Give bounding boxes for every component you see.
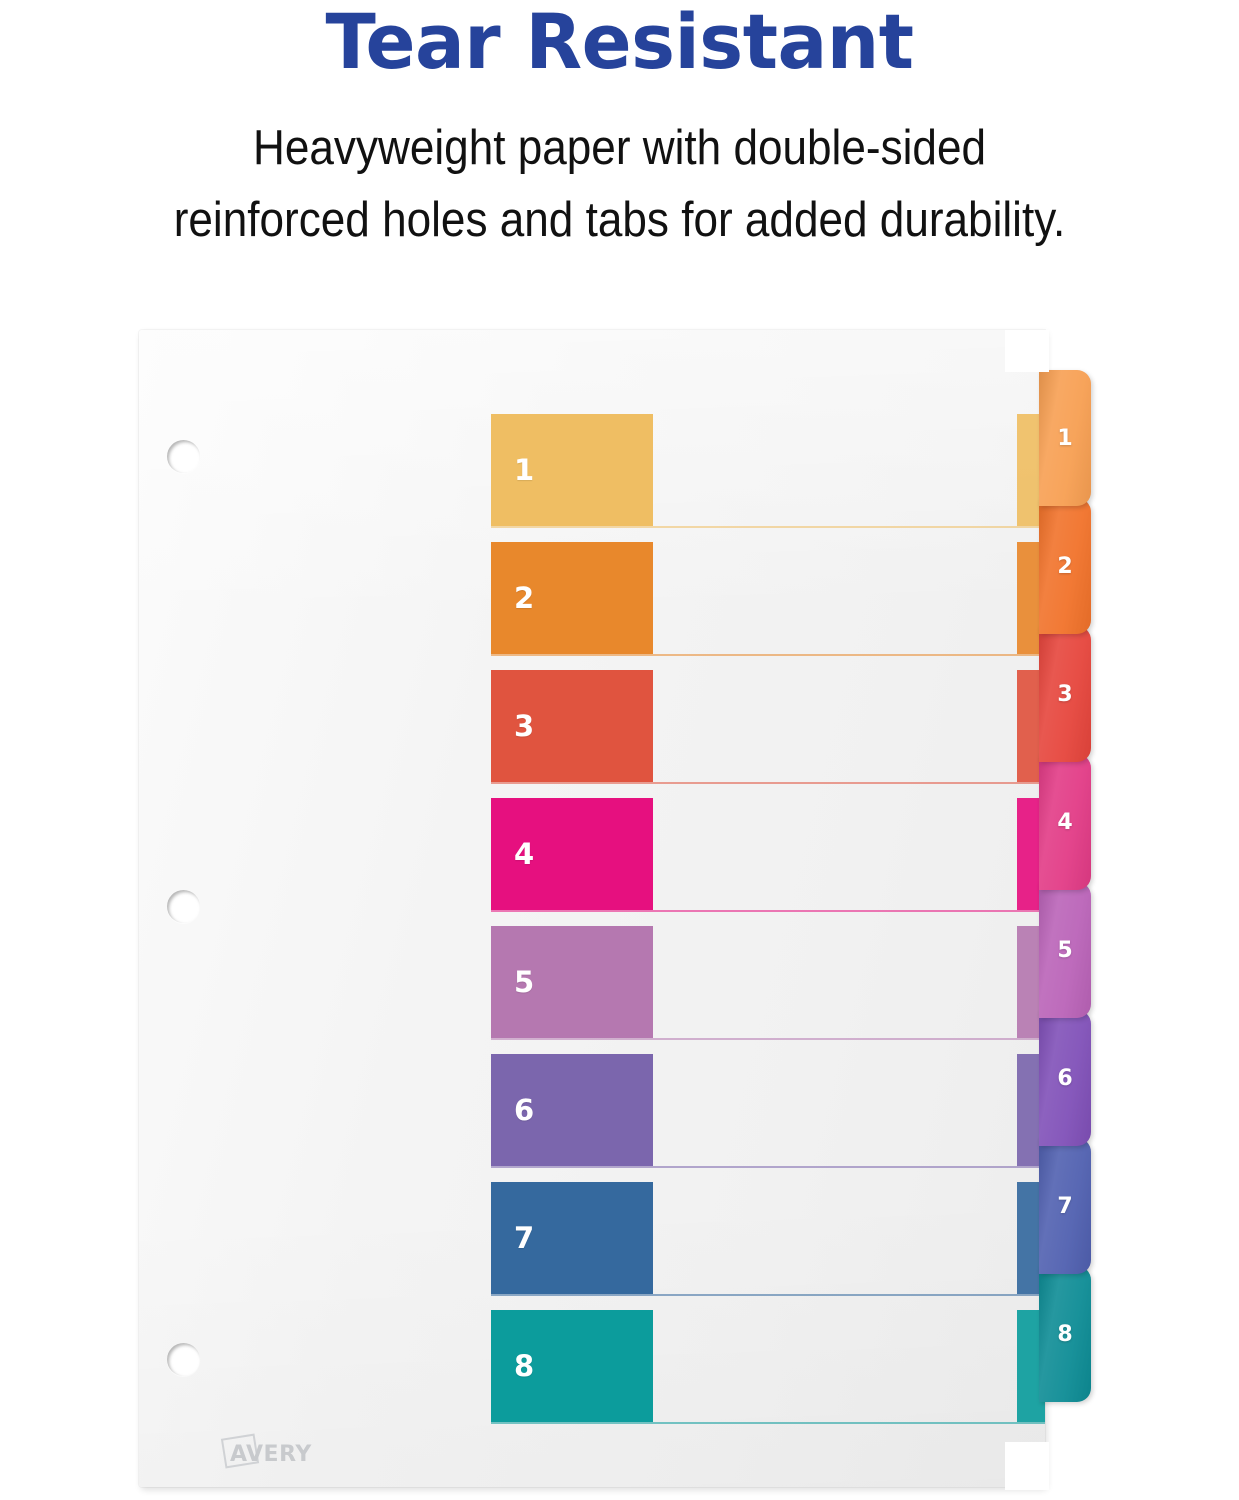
avery-logo: AVERY: [221, 1432, 331, 1472]
divider-color-block: 1: [491, 414, 653, 526]
index-tab-number: 3: [1057, 682, 1072, 707]
divider-rule-line: [491, 526, 1045, 528]
divider-rule-line: [491, 782, 1045, 784]
divider-rule-line: [491, 654, 1045, 656]
subheadline-text: Heavyweight paper with double-sided rein…: [62, 112, 1177, 256]
divider-rule-line: [491, 1166, 1045, 1168]
divider-rule-line: [491, 1038, 1045, 1040]
index-tab-number: 8: [1057, 1322, 1072, 1347]
sheet-top-notch: [1005, 330, 1049, 372]
divider-color-block: 6: [491, 1054, 653, 1166]
divider-block-number: 6: [514, 1093, 534, 1127]
index-tab-5[interactable]: 5: [1039, 882, 1091, 1018]
divider-block-number: 2: [514, 581, 534, 615]
headline-text: Tear Resistant: [19, 2, 1221, 82]
punch-hole-top: [167, 440, 200, 473]
index-tabs: 12345678: [1039, 330, 1099, 1490]
divider-color-block: 5: [491, 926, 653, 1038]
product-image-canvas: Tear Resistant Heavyweight paper with do…: [0, 0, 1239, 1500]
divider-block-number: 5: [514, 965, 534, 999]
index-tab-3[interactable]: 3: [1039, 626, 1091, 762]
divider-color-block: 4: [491, 798, 653, 910]
divider-block-number: 1: [514, 453, 534, 487]
divider-color-block: 3: [491, 670, 653, 782]
divider-color-block: 8: [491, 1310, 653, 1422]
divider-rows: 12345678: [139, 330, 1045, 1487]
index-tab-number: 7: [1057, 1194, 1072, 1219]
divider-rule-line: [491, 1422, 1045, 1424]
index-tab-2[interactable]: 2: [1039, 498, 1091, 634]
punch-hole-middle: [167, 890, 200, 923]
index-tab-number: 1: [1057, 426, 1072, 451]
divider-color-block: 2: [491, 542, 653, 654]
divider-rule-line: [491, 910, 1045, 912]
marketing-copy: Tear Resistant Heavyweight paper with do…: [0, 0, 1239, 260]
sheet-bottom-notch: [1005, 1442, 1049, 1490]
index-tab-8[interactable]: 8: [1039, 1266, 1091, 1402]
index-tab-6[interactable]: 6: [1039, 1010, 1091, 1146]
divider-block-number: 4: [514, 837, 534, 871]
subheadline-line-2: reinforced holes and tabs for added dura…: [62, 184, 1177, 256]
index-tab-1[interactable]: 1: [1039, 370, 1091, 506]
divider-color-block: 7: [491, 1182, 653, 1294]
divider-block-number: 8: [514, 1349, 534, 1383]
divider-sheet-photo: 12345678 12345678 AVERY: [139, 330, 1099, 1490]
avery-wordmark: AVERY: [230, 1442, 312, 1467]
index-tab-number: 6: [1057, 1066, 1072, 1091]
index-tab-number: 2: [1057, 554, 1072, 579]
punch-hole-bottom: [167, 1343, 200, 1376]
subheadline-line-1: Heavyweight paper with double-sided: [62, 112, 1177, 184]
index-tab-number: 4: [1057, 810, 1072, 835]
divider-block-number: 3: [514, 709, 534, 743]
index-tab-number: 5: [1057, 938, 1072, 963]
divider-rule-line: [491, 1294, 1045, 1296]
divider-block-number: 7: [514, 1221, 534, 1255]
index-tab-7[interactable]: 7: [1039, 1138, 1091, 1274]
index-tab-4[interactable]: 4: [1039, 754, 1091, 890]
